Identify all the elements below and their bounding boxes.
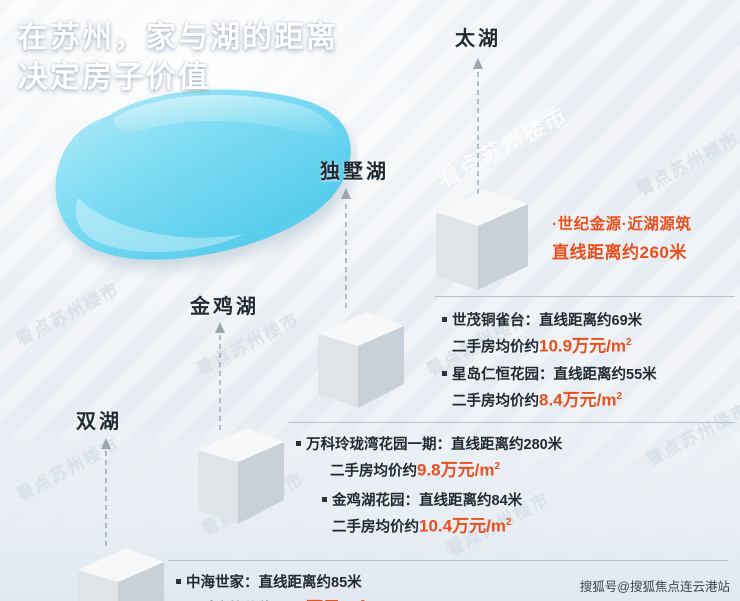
infographic-canvas: 看点苏州楼市 看点苏州楼市 看点苏州楼市 看点苏州楼市 看点苏州楼市 看点苏州楼… bbox=[0, 0, 740, 601]
price-label: 二手房均价约 bbox=[330, 463, 417, 479]
footer-text: 搜狐号@搜狐焦点连云港站 bbox=[580, 576, 730, 595]
project-distance: 直线距离约69米 bbox=[539, 313, 642, 329]
bullet-icon bbox=[296, 441, 301, 446]
arrow-taihu bbox=[470, 58, 486, 198]
lake-shape bbox=[48, 78, 358, 298]
project-name: 金鸡湖花园： bbox=[332, 493, 419, 509]
title-line-2: 决定房子价值 bbox=[18, 58, 338, 98]
price-sup: 2 bbox=[494, 461, 500, 472]
project-item-1: 世茂铜雀台：直线距离约69米 二手房均价约10.9万元/m2 bbox=[442, 310, 642, 358]
price-label: 二手房均价约 bbox=[332, 519, 419, 535]
bullet-icon bbox=[322, 497, 327, 502]
arrow-shuanghu bbox=[98, 438, 114, 550]
price-unit: /m bbox=[475, 460, 495, 479]
price-sup: 2 bbox=[616, 391, 622, 402]
project-item-2: 星岛仁恒花园：直线距离约55米 二手房均价约8.4万元/m2 bbox=[442, 364, 657, 412]
project-name: 中海世家： bbox=[186, 575, 259, 591]
price-unit: /m bbox=[606, 336, 626, 355]
project-item-4: 金鸡湖花园：直线距离约84米 二手房均价约10.4万元/m2 bbox=[322, 490, 522, 538]
price-value: 10.9万元 bbox=[539, 336, 606, 355]
divider-1 bbox=[435, 296, 735, 297]
bullet-icon bbox=[442, 371, 447, 376]
title-line-1: 在苏州，家与湖的距离 bbox=[18, 18, 338, 58]
project-distance: 直线距离约55米 bbox=[554, 367, 657, 383]
lake-label-shuanghu: 双湖 bbox=[76, 405, 122, 434]
lake-label-duzhu: 独墅湖 bbox=[320, 155, 389, 184]
cube-taihu bbox=[436, 190, 528, 294]
price-sup: 2 bbox=[506, 517, 512, 528]
divider-2 bbox=[288, 422, 735, 423]
footer-credit: 搜狐号@搜狐焦点连云港站 bbox=[580, 576, 730, 595]
cube-shuanghu bbox=[78, 548, 164, 601]
price-unit: /m bbox=[486, 516, 506, 535]
bullet-icon bbox=[176, 579, 181, 584]
cube-duzhu bbox=[318, 312, 404, 412]
highlight-block: ·世纪金源·近湖源筑 直线距离约260米 bbox=[552, 212, 691, 263]
divider-3 bbox=[168, 560, 728, 561]
project-name: 星岛仁恒花园： bbox=[452, 367, 554, 383]
project-distance: 直线距离约280米 bbox=[451, 437, 562, 453]
price-sup: 2 bbox=[626, 337, 632, 348]
project-distance: 直线距离约85米 bbox=[259, 575, 362, 591]
price-label: 二手房均价约 bbox=[452, 393, 539, 409]
project-name: 万科玲珑湾花园一期： bbox=[306, 437, 451, 453]
lake-label-jinji: 金鸡湖 bbox=[190, 290, 259, 319]
project-item-5: 中海世家：直线距离约85米 二手房均价约10.8万元/m2 bbox=[176, 572, 366, 601]
highlight-name: ·世纪金源·近湖源筑 bbox=[552, 212, 691, 234]
project-distance: 直线距离约84米 bbox=[419, 493, 522, 509]
arrow-jinji bbox=[212, 322, 228, 434]
project-item-3: 万科玲珑湾花园一期：直线距离约280米 二手房均价约9.8万元/m2 bbox=[296, 434, 562, 482]
price-unit: /m bbox=[597, 390, 617, 409]
page-title: 在苏州，家与湖的距离 决定房子价值 bbox=[18, 18, 338, 98]
arrow-duzhu bbox=[338, 188, 354, 312]
lake-label-taihu: 太湖 bbox=[455, 22, 501, 51]
price-value: 9.8万元 bbox=[417, 460, 475, 479]
project-name: 世茂铜雀台： bbox=[452, 313, 539, 329]
cube-jinji bbox=[198, 428, 284, 528]
highlight-distance: 直线距离约260米 bbox=[552, 238, 691, 263]
price-label: 二手房均价约 bbox=[452, 339, 539, 355]
bullet-icon bbox=[442, 317, 447, 322]
price-value: 8.4万元 bbox=[539, 390, 597, 409]
price-value: 10.4万元 bbox=[419, 516, 486, 535]
